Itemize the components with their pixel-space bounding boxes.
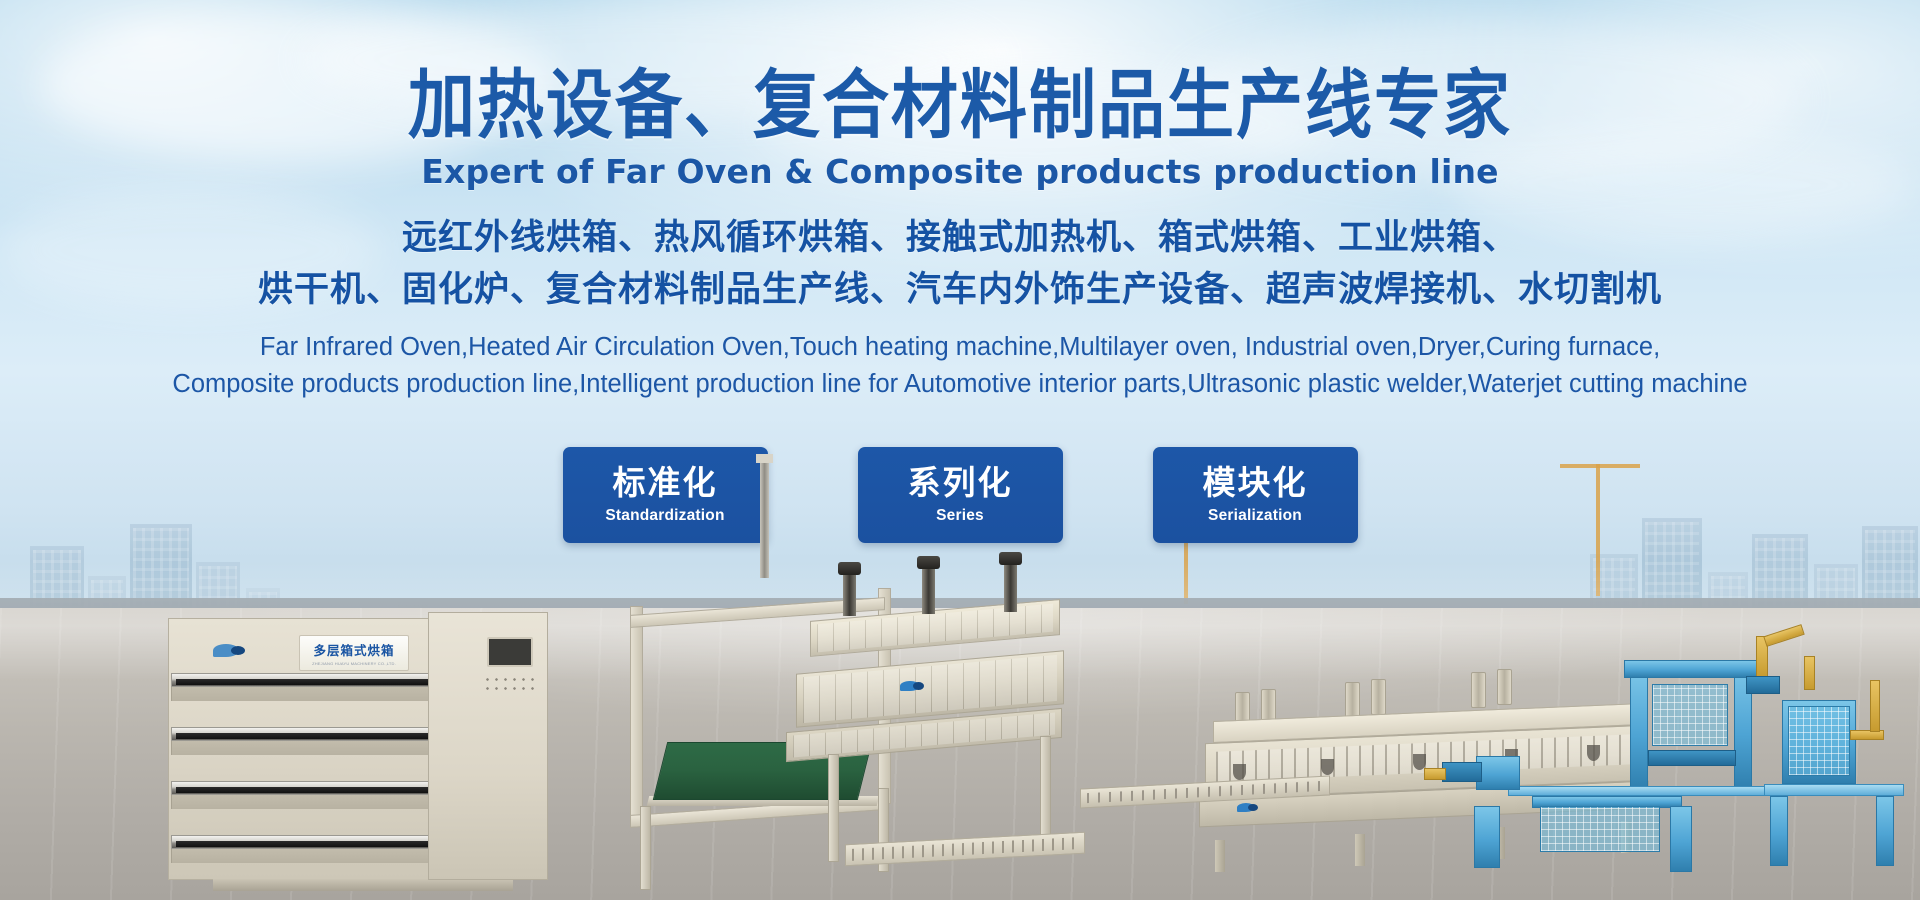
base-rail bbox=[1764, 784, 1904, 796]
machine-nameplate: 多层箱式烘箱 ZHEJIANG HUAYU MACHINERY CO.,LTD. bbox=[299, 635, 409, 671]
yellow-mast bbox=[1870, 680, 1880, 732]
brand-logo-icon bbox=[900, 680, 934, 693]
yellow-end-cap bbox=[1424, 768, 1446, 780]
safety-mesh-panel bbox=[1652, 684, 1728, 746]
product-list-chinese-line-2: 烘干机、固化炉、复合材料制品生产线、汽车内外饰生产设备、超声波焊接机、水切割机 bbox=[0, 265, 1920, 317]
frame-post bbox=[630, 606, 643, 822]
mast-cap bbox=[756, 454, 773, 463]
promotional-banner: 加热设备、复合材料制品生产线专家 Expert of Far Oven & Co… bbox=[0, 0, 1920, 900]
badge-label-cn: 系列化 bbox=[908, 465, 1013, 501]
support-column bbox=[1770, 796, 1788, 866]
page-title-chinese: 加热设备、复合材料制品生产线专家 bbox=[0, 66, 1920, 145]
piston-cap bbox=[838, 562, 861, 575]
frame-leg bbox=[828, 754, 839, 862]
actuator-cylinder bbox=[1442, 762, 1482, 782]
piston-cap bbox=[999, 552, 1022, 565]
support-column bbox=[1474, 806, 1500, 868]
drive-unit bbox=[1476, 756, 1520, 790]
hydraulic-piston bbox=[922, 566, 935, 614]
product-list-english-line-2: Composite products production line,Intel… bbox=[0, 366, 1920, 403]
badge-standardization[interactable]: 标准化 Standardization bbox=[563, 447, 768, 543]
support-column bbox=[1670, 806, 1692, 872]
badge-label-en: Serialization bbox=[1208, 507, 1302, 525]
product-list-chinese: 远红外线烘箱、热风循环烘箱、接触式加热机、箱式烘箱、工业烘箱、 烘干机、固化炉、… bbox=[0, 213, 1920, 317]
mast-pole bbox=[760, 460, 769, 578]
transfer-rail bbox=[1508, 786, 1808, 796]
gantry-beam bbox=[1624, 660, 1760, 678]
control-display-screen[interactable] bbox=[487, 637, 533, 667]
control-cabinet bbox=[428, 612, 548, 880]
machine-nameplate-title: 多层箱式烘箱 bbox=[313, 640, 394, 659]
machine-multilayer-box-oven: 多层箱式烘箱 ZHEJIANG HUAYU MACHINERY CO.,LTD.… bbox=[128, 618, 548, 890]
page-title-english: Expert of Far Oven & Composite products … bbox=[0, 152, 1920, 191]
frame-leg bbox=[1040, 736, 1051, 848]
brand-logo-icon bbox=[1237, 802, 1267, 814]
robot-base bbox=[1746, 676, 1780, 694]
hydraulic-piston bbox=[1004, 562, 1017, 612]
piston-cap bbox=[917, 556, 940, 569]
robot-arm-segment bbox=[1804, 656, 1815, 690]
brand-logo-icon bbox=[213, 643, 259, 659]
badge-label-cn: 标准化 bbox=[613, 465, 718, 501]
badge-label-en: Series bbox=[936, 507, 984, 525]
badge-serialization[interactable]: 模块化 Serialization bbox=[1153, 447, 1358, 543]
badge-label-en: Standardization bbox=[605, 507, 724, 525]
machine-automation-cell bbox=[1520, 690, 1920, 890]
product-list-chinese-line-1: 远红外线烘箱、热风循环烘箱、接触式加热机、箱式烘箱、工业烘箱、 bbox=[0, 213, 1920, 265]
oven-base bbox=[213, 879, 513, 891]
feature-badge-group: 标准化 Standardization 系列化 Series 模块化 Seria… bbox=[0, 447, 1920, 543]
headline-block: 加热设备、复合材料制品生产线专家 Expert of Far Oven & Co… bbox=[0, 0, 1920, 403]
cabinet-mesh-door[interactable] bbox=[1788, 706, 1850, 776]
hydraulic-piston bbox=[843, 572, 856, 616]
work-table bbox=[1648, 750, 1736, 766]
support-column bbox=[1876, 796, 1894, 866]
guard-mesh bbox=[1540, 806, 1660, 852]
gantry-post bbox=[1630, 670, 1648, 790]
badge-series[interactable]: 系列化 Series bbox=[858, 447, 1063, 543]
product-list-english-line-1: Far Infrared Oven,Heated Air Circulation… bbox=[0, 329, 1920, 366]
product-list-english: Far Infrared Oven,Heated Air Circulation… bbox=[0, 329, 1920, 403]
vent-grille-icon bbox=[483, 675, 535, 695]
badge-label-cn: 模块化 bbox=[1203, 465, 1308, 501]
machine-composite-press-line bbox=[600, 570, 1120, 900]
machine-nameplate-subtitle: ZHEJIANG HUAYU MACHINERY CO.,LTD. bbox=[312, 661, 396, 666]
